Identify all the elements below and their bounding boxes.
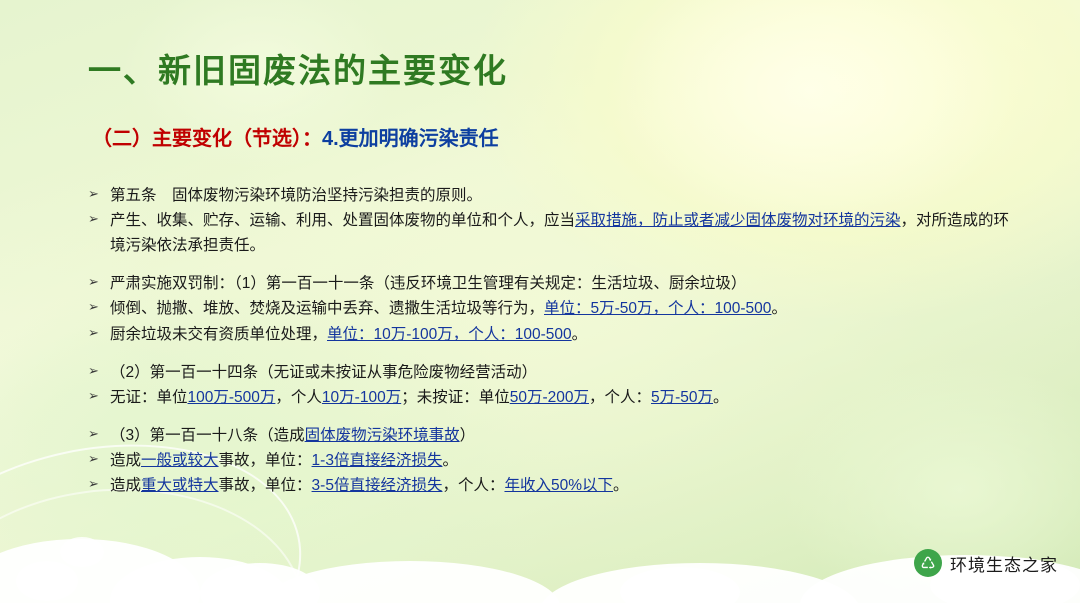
plain-text: 。 bbox=[442, 452, 458, 469]
cloud-shape bbox=[110, 557, 290, 603]
paragraph-spacer bbox=[88, 258, 1018, 271]
bullet-arrow-icon: ➢ bbox=[88, 473, 110, 495]
list-item-text: 厨余垃圾未交有资质单位处理，单位：10万-100万，个人：100-500。 bbox=[110, 322, 1018, 347]
bottom-cloud-decoration bbox=[0, 483, 1080, 603]
plain-text: 。 bbox=[713, 389, 729, 406]
emphasis-underline-text: 100万-500万 bbox=[188, 389, 276, 406]
cloud-shape bbox=[540, 563, 860, 603]
cloud-shape bbox=[0, 539, 200, 603]
list-item-text: 无证：单位100万-500万，个人10万-100万；未按证：单位50万-200万… bbox=[110, 385, 1018, 410]
plain-text: ，个人 bbox=[275, 389, 322, 406]
cloud-shape bbox=[620, 567, 740, 603]
subtitle-highlight: 4.更加明确污染责任 bbox=[322, 128, 499, 150]
plain-text: 造成 bbox=[110, 452, 141, 469]
list-item: ➢严肃实施双罚制：（1）第一百一十一条（违反环境卫生管理有关规定：生活垃圾、厨余… bbox=[88, 271, 1018, 296]
plain-text: 产生、收集、贮存、运输、利用、处置固体废物的单位和个人，应当 bbox=[110, 212, 575, 229]
list-item: ➢倾倒、抛撒、堆放、焚烧及运输中丢弃、遗撒生活垃圾等行为，单位：5万-50万，个… bbox=[88, 296, 1018, 321]
bullet-arrow-icon: ➢ bbox=[88, 322, 110, 344]
plain-text: 。 bbox=[771, 300, 787, 317]
emphasis-underline-text: 重大或特大 bbox=[141, 477, 219, 494]
emphasis-underline-text: 3-5倍直接经济损失 bbox=[312, 477, 443, 494]
emphasis-underline-text: 单位：10万-100万，个人：100-500 bbox=[327, 326, 572, 343]
bullet-arrow-icon: ➢ bbox=[88, 271, 110, 293]
list-item-text: 第五条 固体废物污染环境防治坚持污染担责的原则。 bbox=[110, 183, 1018, 208]
plain-text: 。 bbox=[613, 477, 629, 494]
list-item-text: 倾倒、抛撒、堆放、焚烧及运输中丢弃、遗撒生活垃圾等行为，单位：5万-50万，个人… bbox=[110, 296, 1018, 321]
list-item: ➢无证：单位100万-500万，个人10万-100万；未按证：单位50万-200… bbox=[88, 385, 1018, 410]
emphasis-underline-text: 1-3倍直接经济损失 bbox=[312, 452, 443, 469]
emphasis-underline-text: 采取措施，防止或者减少固体废物对环境的污染 bbox=[575, 212, 901, 229]
slide-canvas: 一、新旧固废法的主要变化 （二）主要变化（节选）：4.更加明确污染责任 ➢第五条… bbox=[0, 0, 1080, 603]
list-item: ➢第五条 固体废物污染环境防治坚持污染担责的原则。 bbox=[88, 183, 1018, 208]
slide-body-list: ➢第五条 固体废物污染环境防治坚持污染担责的原则。➢产生、收集、贮存、运输、利用… bbox=[88, 183, 1018, 498]
plain-text: 厨余垃圾未交有资质单位处理， bbox=[110, 326, 327, 343]
list-item-text: 造成一般或较大事故，单位：1-3倍直接经济损失。 bbox=[110, 448, 1018, 473]
bullet-arrow-icon: ➢ bbox=[88, 296, 110, 318]
list-item-text: 造成重大或特大事故，单位：3-5倍直接经济损失，个人：年收入50%以下。 bbox=[110, 473, 1018, 498]
bullet-arrow-icon: ➢ bbox=[88, 208, 110, 230]
list-item-text: 产生、收集、贮存、运输、利用、处置固体废物的单位和个人，应当采取措施，防止或者减… bbox=[110, 208, 1018, 258]
list-item: ➢（2）第一百一十四条（无证或未按证从事危险废物经营活动） bbox=[88, 360, 1018, 385]
cloud-shape bbox=[200, 563, 320, 603]
emphasis-underline-text: 固体废物污染环境事故 bbox=[305, 427, 460, 444]
plain-text: （3）第一百一十八条（造成 bbox=[110, 427, 305, 444]
list-item: ➢（3）第一百一十八条（造成固体废物污染环境事故） bbox=[88, 423, 1018, 448]
plain-text: 事故，单位： bbox=[219, 477, 312, 494]
paragraph-spacer bbox=[88, 347, 1018, 360]
emphasis-underline-text: 一般或较大 bbox=[141, 452, 219, 469]
plain-text: 倾倒、抛撒、堆放、焚烧及运输中丢弃、遗撒生活垃圾等行为， bbox=[110, 300, 544, 317]
list-item-text: （3）第一百一十八条（造成固体废物污染环境事故） bbox=[110, 423, 1018, 448]
cloud-bubble bbox=[60, 537, 104, 567]
list-item: ➢产生、收集、贮存、运输、利用、处置固体废物的单位和个人，应当采取措施，防止或者… bbox=[88, 208, 1018, 258]
plain-text: 第五条 固体废物污染环境防治坚持污染担责的原则。 bbox=[110, 187, 482, 204]
brand-name: 环境生态之家 bbox=[950, 551, 1058, 576]
bullet-arrow-icon: ➢ bbox=[88, 360, 110, 382]
plain-text: ，个人： bbox=[589, 389, 651, 406]
footer-brand: ♺ 环境生态之家 bbox=[914, 549, 1058, 577]
cloud-bubble bbox=[16, 561, 78, 601]
bullet-arrow-icon: ➢ bbox=[88, 423, 110, 445]
plain-text: 。 bbox=[572, 326, 588, 343]
list-item: ➢厨余垃圾未交有资质单位处理，单位：10万-100万，个人：100-500。 bbox=[88, 322, 1018, 347]
bullet-arrow-icon: ➢ bbox=[88, 448, 110, 470]
plain-text: 严肃实施双罚制：（1）第一百一十一条（违反环境卫生管理有关规定：生活垃圾、厨余垃… bbox=[110, 275, 746, 292]
emphasis-underline-text: 5万-50万 bbox=[651, 389, 713, 406]
cloud-shape bbox=[260, 561, 560, 603]
plain-text: ；未按证：单位 bbox=[401, 389, 510, 406]
slide-subtitle: （二）主要变化（节选）：4.更加明确污染责任 bbox=[92, 122, 499, 151]
plain-text: 无证：单位 bbox=[110, 389, 188, 406]
plain-text: （2）第一百一十四条（无证或未按证从事危险废物经营活动） bbox=[110, 364, 537, 381]
emphasis-underline-text: 50万-200万 bbox=[510, 389, 589, 406]
emphasis-underline-text: 10万-100万 bbox=[322, 389, 401, 406]
plain-text: ，个人： bbox=[442, 477, 504, 494]
list-item-text: 严肃实施双罚制：（1）第一百一十一条（违反环境卫生管理有关规定：生活垃圾、厨余垃… bbox=[110, 271, 1018, 296]
bullet-arrow-icon: ➢ bbox=[88, 183, 110, 205]
list-item-text: （2）第一百一十四条（无证或未按证从事危险废物经营活动） bbox=[110, 360, 1018, 385]
bullet-arrow-icon: ➢ bbox=[88, 385, 110, 407]
paragraph-spacer bbox=[88, 410, 1018, 423]
subtitle-prefix: （二）主要变化（节选）： bbox=[92, 128, 322, 150]
emphasis-underline-text: 年收入50%以下 bbox=[504, 477, 613, 494]
list-item: ➢造成重大或特大事故，单位：3-5倍直接经济损失，个人：年收入50%以下。 bbox=[88, 473, 1018, 498]
plain-text: ） bbox=[460, 427, 476, 444]
recycle-icon: ♺ bbox=[914, 549, 942, 577]
plain-text: 事故，单位： bbox=[219, 452, 312, 469]
list-item: ➢造成一般或较大事故，单位：1-3倍直接经济损失。 bbox=[88, 448, 1018, 473]
emphasis-underline-text: 单位：5万-50万，个人：100-500 bbox=[544, 300, 771, 317]
slide-title: 一、新旧固废法的主要变化 bbox=[88, 44, 508, 92]
plain-text: 造成 bbox=[110, 477, 141, 494]
